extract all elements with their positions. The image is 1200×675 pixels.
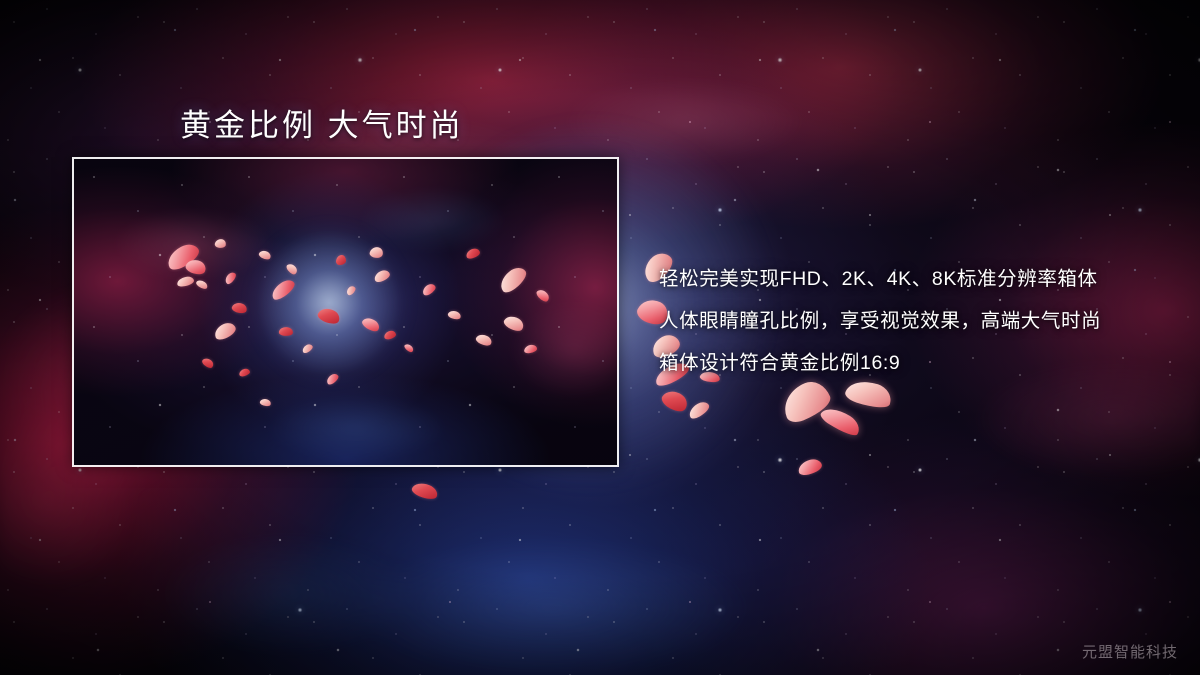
body-line-3: 箱体设计符合黄金比例16:9: [659, 342, 1179, 384]
petal: [686, 399, 711, 420]
watermark-label: 元盟智能科技: [1082, 641, 1178, 662]
petal: [797, 457, 824, 476]
petal: [659, 386, 691, 415]
petal: [410, 480, 439, 503]
page-title: 黄金比例 大气时尚: [180, 100, 464, 145]
preview-starfield: [74, 159, 617, 465]
petal: [818, 402, 863, 440]
body-copy-block: 轻松完美实现FHD、2K、4K、8K标准分辨率箱体 人体眼睛瞳孔比例，享受视觉效…: [659, 258, 1179, 384]
preview-image-frame: [72, 157, 619, 467]
slide-canvas: 黄金比例 大气时尚 轻松完美实现FHD、2K、4K、8K标准分辨率箱体 人体眼睛…: [0, 0, 1200, 675]
body-line-1: 轻松完美实现FHD、2K、4K、8K标准分辨率箱体: [659, 258, 1179, 300]
body-line-2: 人体眼睛瞳孔比例，享受视觉效果，高端大气时尚: [659, 300, 1179, 342]
